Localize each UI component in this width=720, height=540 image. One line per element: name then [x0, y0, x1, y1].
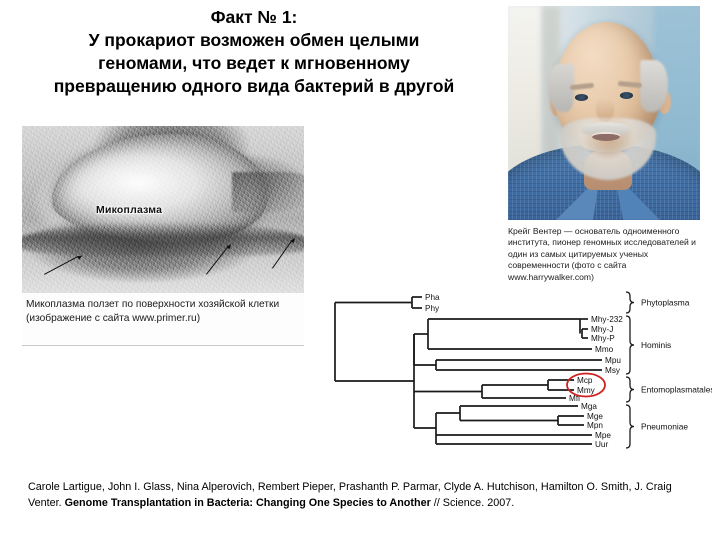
- tree-leaf-labels: PhaPhyMhy-232Mhy-JMhy-PMmoMpuMsyMcpMmyMf…: [425, 293, 623, 449]
- tree-group-label: Hominis: [641, 340, 671, 350]
- tree-group-bracket: [626, 316, 634, 374]
- tree-group-bracket: [626, 377, 634, 402]
- tree-leaf-label: Msy: [605, 366, 621, 375]
- tree-group-bracket: [626, 405, 634, 448]
- venter-caption: Крейг Вентер — основатель одноименного и…: [508, 226, 706, 283]
- tree-leaf-label: Mge: [587, 412, 603, 421]
- venter-caption-line-4: современности (фото с сайта: [508, 260, 706, 271]
- micrograph-caption-line-1: Микоплазма ползет по поверхности хозяйск…: [26, 298, 302, 312]
- venter-caption-line-5: www.harrywalker.com): [508, 272, 706, 283]
- page-title: Факт № 1: У прокариот возможен обмен цел…: [8, 6, 500, 98]
- portrait-mouth: [592, 132, 620, 141]
- micrograph-image: Микоплазма: [22, 126, 304, 293]
- page-title-line-4: превращению одного вида бактерий в друго…: [8, 75, 500, 98]
- page-title-line-2: У прокариот возможен обмен целыми: [8, 29, 500, 52]
- tree-group-brackets: [626, 292, 634, 448]
- tree-leaf-label: Mhy-P: [591, 334, 615, 343]
- tree-leaf-label: Pha: [425, 293, 440, 302]
- tree-leaf-label: Mhy-J: [591, 325, 613, 334]
- venter-caption-line-1: Крейг Вентер — основатель одноименного: [508, 226, 706, 237]
- tree-group-bracket: [626, 292, 634, 313]
- citation: Carole Lartigue, John I. Glass, Nina Alp…: [28, 480, 700, 511]
- phylogenetic-tree-figure: PhaPhyMhy-232Mhy-JMhy-PMmoMpuMsyMcpMmyMf…: [330, 286, 712, 458]
- tree-group-label: Entomoplasmatales: [641, 385, 712, 395]
- tree-leaf-label: Mcp: [577, 376, 593, 385]
- venter-portrait-photo: [508, 6, 700, 220]
- tree-group-label: Phytoplasma: [641, 298, 690, 308]
- portrait-eye-left: [575, 94, 588, 101]
- tree-group-label: Pneumoniae: [641, 422, 688, 432]
- tree-leaf-label: Mpu: [605, 356, 621, 365]
- tree-group-labels: PhytoplasmaHominisEntomoplasmatalesPneum…: [641, 298, 712, 432]
- citation-source: // Science. 2007.: [431, 497, 514, 509]
- portrait-eye-right: [620, 92, 633, 99]
- citation-article-title: Genome Transplantation in Bacteria: Chan…: [65, 497, 431, 509]
- tree-leaf-label: Mhy-232: [591, 315, 623, 324]
- venter-caption-line-3: один из самых цитируемых ученых: [508, 249, 706, 260]
- venter-caption-line-2: института, пионер геномных исследователе…: [508, 237, 706, 248]
- micrograph-caption: Микоплазма ползет по поверхности хозяйск…: [26, 298, 302, 325]
- phylogenetic-tree-svg: PhaPhyMhy-232Mhy-JMhy-PMmoMpuMsyMcpMmyMf…: [330, 286, 712, 458]
- tree-branches: [335, 297, 602, 444]
- page-title-line-3: геномами, что ведет к мгновенному: [8, 52, 500, 75]
- tree-leaf-label: Mga: [581, 402, 597, 411]
- tree-leaf-label: Mpn: [587, 421, 603, 430]
- tree-leaf-label: Phy: [425, 304, 440, 313]
- micrograph-figure: Микоплазма Микоплазма ползет по поверхно…: [22, 126, 304, 346]
- micrograph-caption-line-2: (изображение с сайта www.primer.ru): [26, 312, 302, 326]
- tree-leaf-label: Mmo: [595, 345, 614, 354]
- tree-leaf-label: Uur: [595, 440, 608, 449]
- tree-leaf-label: Mpe: [595, 431, 611, 440]
- page-title-line-1: Факт № 1:: [8, 6, 500, 29]
- micrograph-grain-texture: [22, 126, 304, 293]
- micrograph-inner-label: Микоплазма: [96, 204, 162, 216]
